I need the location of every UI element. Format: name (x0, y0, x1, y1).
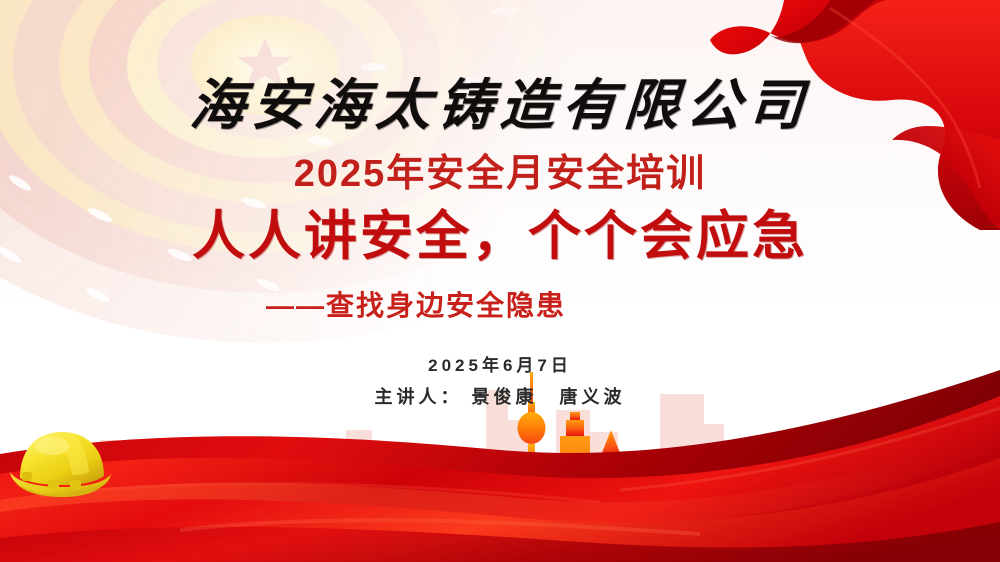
sub-slogan: ——查找身边安全隐患 (0, 292, 1000, 320)
presenter-names: 主讲人： 景俊康 唐义波 (0, 388, 1000, 406)
main-slogan: 人人讲安全，个个会应急 (0, 208, 1000, 266)
presentation-date: 2025年6月7日 (0, 357, 1000, 374)
slide-text-layer: 海安海太铸造有限公司 2025年安全月安全培训 人人讲安全，个个会应急 ——查找… (0, 0, 1000, 562)
company-name-title: 海安海太铸造有限公司 (0, 78, 1000, 133)
training-subtitle: 2025年安全月安全培训 (0, 155, 1000, 193)
presentation-slide: 海安海太铸造有限公司 2025年安全月安全培训 人人讲安全，个个会应急 ——查找… (0, 0, 1000, 562)
